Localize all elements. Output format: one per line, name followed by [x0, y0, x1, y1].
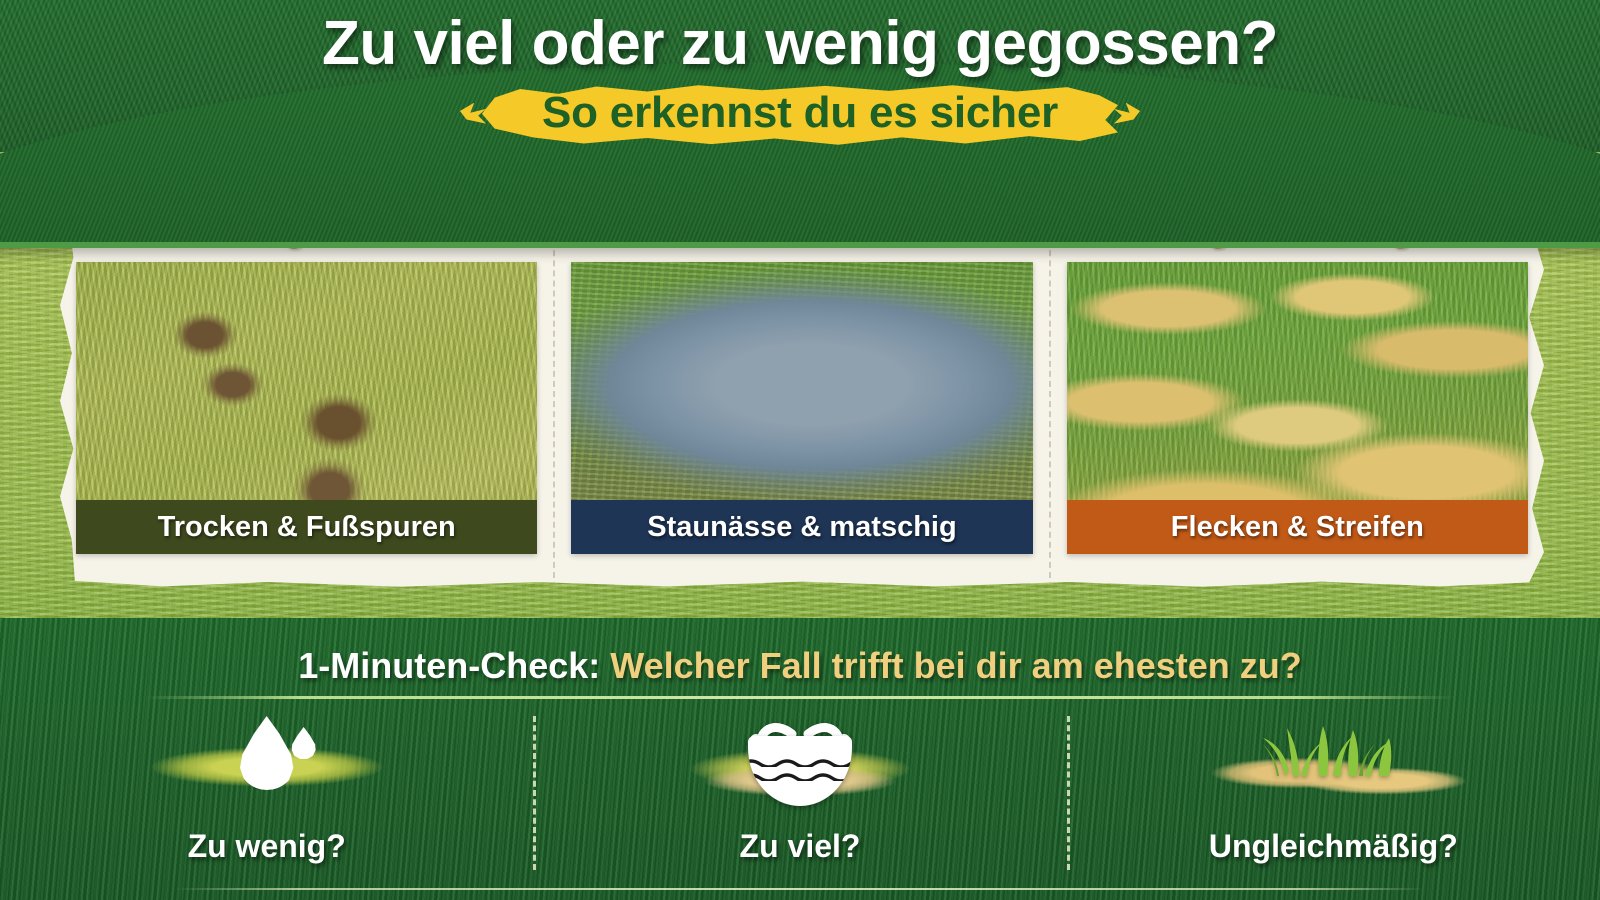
page-subtitle: So erkennst du es sicher	[542, 88, 1058, 137]
page-title: Zu viel oder zu wenig gegossen?	[0, 8, 1600, 79]
photo-patchy-striped-lawn: Flecken & Streifen	[1067, 262, 1528, 554]
water-wave-1-icon	[748, 758, 852, 767]
check-heading-divider	[145, 696, 1455, 699]
photo-dry-lawn-with-footprints: Trocken & Fußspuren	[76, 262, 537, 554]
column-zu-wenig-wasser: Zu wenig Wasser? Trocken & Fußspuren	[60, 190, 553, 588]
one-minute-check-section: 1-Minuten-Check: Welcher Fall trifft bei…	[0, 618, 1600, 900]
photo-caption-3: Flecken & Streifen	[1067, 500, 1528, 554]
check-heading-lead: 1-Minuten-Check:	[298, 645, 600, 686]
column-ungleichmaessig: Ungleichmäßig? Flecken & Streifen	[1049, 190, 1544, 588]
comparison-columns: Zu wenig Wasser? Trocken & Fußspuren Zu …	[60, 190, 1544, 588]
photo-waterlogged-lawn-puddle: Staunässe & matschig	[571, 262, 1032, 554]
check-item-label-3: Ungleichmäßig?	[1209, 828, 1458, 865]
header-banner: Zu viel oder zu wenig gegossen? So erken…	[0, 0, 1600, 152]
comparison-panel: Zu wenig Wasser? Trocken & Fußspuren Zu …	[60, 190, 1544, 588]
check-items-bottom-divider	[175, 888, 1425, 890]
check-item-zu-viel[interactable]: Zu viel?	[533, 710, 1066, 890]
check-heading-question: Welcher Fall trifft bei dir am ehesten z…	[610, 645, 1301, 686]
subtitle-banner: So erkennst du es sicher	[0, 84, 1600, 146]
check-items: Zu wenig?	[0, 710, 1600, 890]
infographic-root: Zu wenig Wasser? Trocken & Fußspuren Zu …	[0, 0, 1600, 900]
photo-caption-1: Trocken & Fußspuren	[76, 500, 537, 554]
water-wave-2-icon	[748, 772, 852, 781]
photo-caption-2: Staunässe & matschig	[571, 500, 1032, 554]
brush-flick-left-icon	[460, 103, 486, 124]
check-heading: 1-Minuten-Check: Welcher Fall trifft bei…	[0, 645, 1600, 687]
brush-flick-right-icon	[1114, 103, 1140, 124]
patchy-grass-tufts-icon	[1183, 710, 1483, 814]
water-puddle-bowl-icon	[650, 710, 950, 814]
check-item-ungleichmaessig[interactable]: Ungleichmäßig?	[1067, 710, 1600, 890]
droplet-large-icon	[238, 716, 296, 790]
column-zu-viel-wasser: Zu viel Wasser? Staunässe & matschig	[553, 190, 1048, 588]
droplet-small-icon	[291, 727, 317, 759]
grass-tuft-shapes-icon	[1223, 714, 1443, 786]
brush-stroke: So erkennst du es sicher	[482, 84, 1118, 146]
check-item-label-1: Zu wenig?	[188, 828, 346, 865]
check-item-label-2: Zu viel?	[740, 828, 861, 865]
water-droplet-icon	[117, 710, 417, 814]
check-item-zu-wenig[interactable]: Zu wenig?	[0, 710, 533, 890]
